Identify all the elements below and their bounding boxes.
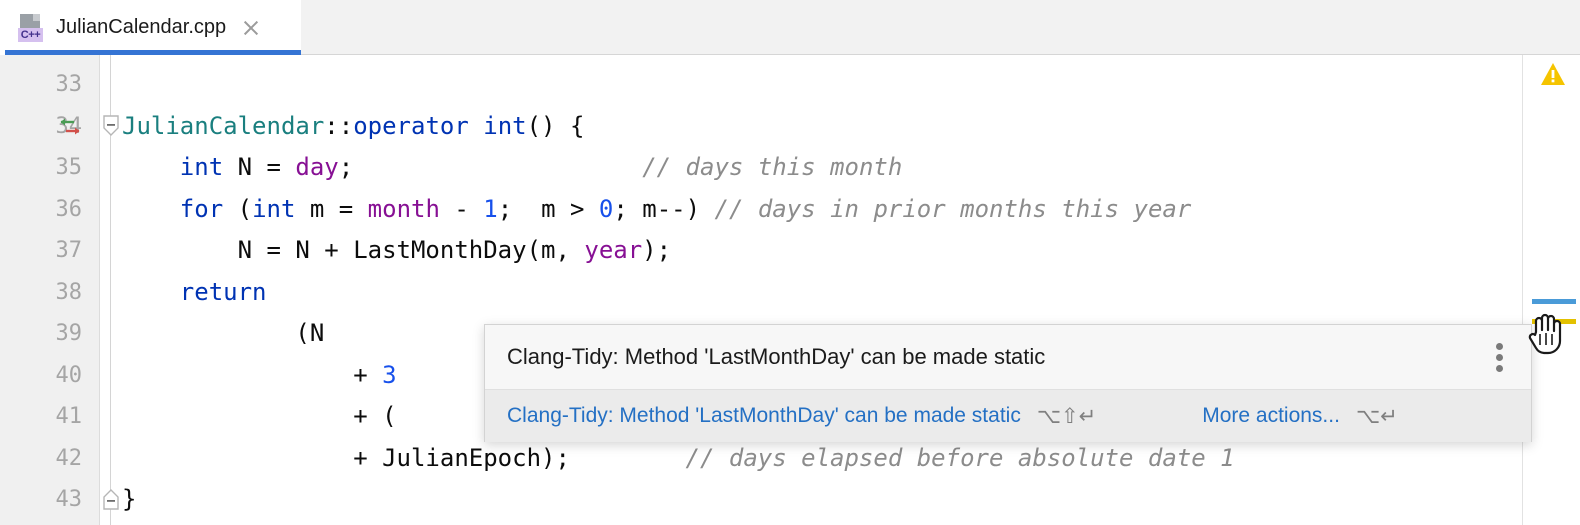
code-line-35[interactable]: 35 int N = day; // days this month [0,147,1580,189]
warning-triangle-icon[interactable] [1540,62,1566,86]
code-token: int [252,195,295,223]
code-token [122,195,180,223]
code-token: (N [122,319,324,347]
code-token [570,444,686,472]
popup-actions-row: Clang-Tidy: Method 'LastMonthDay' can be… [485,389,1531,442]
popup-action-more-actions[interactable]: More actions... [1202,404,1340,428]
code-token [469,112,483,140]
code-token: operator [353,112,469,140]
popup-action-make-static[interactable]: Clang-Tidy: Method 'LastMonthDay' can be… [507,404,1021,428]
code-token: int [483,112,526,140]
code-text: return [122,272,267,314]
code-text: JulianCalendar::operator int() { [122,106,584,148]
file-fold-corner [33,14,40,21]
code-token [353,153,642,181]
inspection-marker-bar[interactable] [1522,55,1580,525]
line-number: 37 [0,230,82,272]
code-token [122,278,180,306]
code-line-38[interactable]: 38 return [0,272,1580,314]
code-token: // days in prior months this year [715,195,1192,223]
code-token: // days elapsed before absolute date 1 [686,444,1235,472]
line-number: 36 [0,189,82,231]
line-number: 35 [0,147,82,189]
line-number: 41 [0,396,82,438]
line-number: 42 [0,438,82,480]
kebab-dot [1496,343,1503,350]
code-token: 3 [382,361,396,389]
code-token: ; m--) [613,195,714,223]
line-number: 33 [0,64,82,106]
info-stripe[interactable] [1532,299,1576,304]
code-token: 1 [483,195,497,223]
line-number: 39 [0,313,82,355]
tab-title: JulianCalendar.cpp [56,16,226,39]
editor-tab-julian-calendar[interactable]: C++ JulianCalendar.cpp [0,0,301,55]
editor-tab-bar: C++ JulianCalendar.cpp [0,0,1580,55]
fold-end-icon[interactable] [102,488,120,510]
code-token: () { [527,112,585,140]
kebab-menu-icon[interactable] [1487,341,1513,373]
code-line-36[interactable]: 36 for (int m = month - 1; m > 0; m--) /… [0,189,1580,231]
line-number: 40 [0,355,82,397]
code-token: m = [295,195,367,223]
code-text: + 3 [122,355,397,397]
line-number: 38 [0,272,82,314]
code-token: ; [339,153,353,181]
fold-collapse-icon[interactable] [102,115,120,137]
code-editor-area[interactable]: 3334JulianCalendar::operator int() {35 i… [0,55,1580,525]
code-token: day [295,153,338,181]
inspection-popup[interactable]: Clang-Tidy: Method 'LastMonthDay' can be… [484,324,1532,442]
code-text: int N = day; // days this month [122,147,902,189]
code-token: N = N + LastMonthDay(m, [122,236,584,264]
warning-stripe[interactable] [1532,319,1576,324]
code-token: N = [223,153,295,181]
code-token: // days this month [642,153,902,181]
code-token: ( [223,195,252,223]
code-text: + JulianEpoch); // days elapsed before a… [122,438,1235,480]
kebab-dot [1496,365,1503,372]
code-token: 0 [599,195,613,223]
popup-action-more-actions-shortcut: ⌥↵ [1356,404,1398,429]
cpp-badge-label: C++ [18,28,43,42]
code-text: (N [122,313,324,355]
code-text: for (int m = month - 1; m > 0; m--) // d… [122,189,1191,231]
code-token: for [180,195,223,223]
code-text: } [122,479,136,521]
code-text: + ( [122,396,397,438]
code-line-34[interactable]: 34JulianCalendar::operator int() { [0,106,1580,148]
code-token: int [180,153,223,181]
code-line-42[interactable]: 42 + JulianEpoch); // days elapsed befor… [0,438,1580,480]
code-token: + ( [122,402,397,430]
popup-message-text: Clang-Tidy: Method 'LastMonthDay' can be… [507,344,1045,370]
code-token: ); [642,236,671,264]
code-token: year [584,236,642,264]
popup-action-make-static-shortcut: ⌥⇧↵ [1037,404,1096,429]
code-token: ; m > [498,195,599,223]
ide-editor-window: C++ JulianCalendar.cpp 3334JulianCalenda… [0,0,1580,525]
code-token: return [180,278,267,306]
code-token: - [440,195,483,223]
code-line-33[interactable]: 33 [0,64,1580,106]
kebab-dot [1496,354,1503,361]
code-line-43[interactable]: 43} [0,479,1580,521]
popup-message-row: Clang-Tidy: Method 'LastMonthDay' can be… [485,325,1531,389]
code-token: :: [324,112,353,140]
code-token: + [122,361,382,389]
code-token: } [122,485,136,513]
code-token: + JulianEpoch); [122,444,570,472]
code-token: month [368,195,440,223]
code-text: N = N + LastMonthDay(m, year); [122,230,671,272]
close-icon[interactable] [240,17,262,39]
code-line-37[interactable]: 37 N = N + LastMonthDay(m, year); [0,230,1580,272]
code-token: JulianCalendar [122,112,324,140]
code-token [122,153,180,181]
line-number: 43 [0,479,82,521]
implementing-method-icon[interactable] [56,113,84,141]
cpp-file-icon: C++ [16,13,46,43]
